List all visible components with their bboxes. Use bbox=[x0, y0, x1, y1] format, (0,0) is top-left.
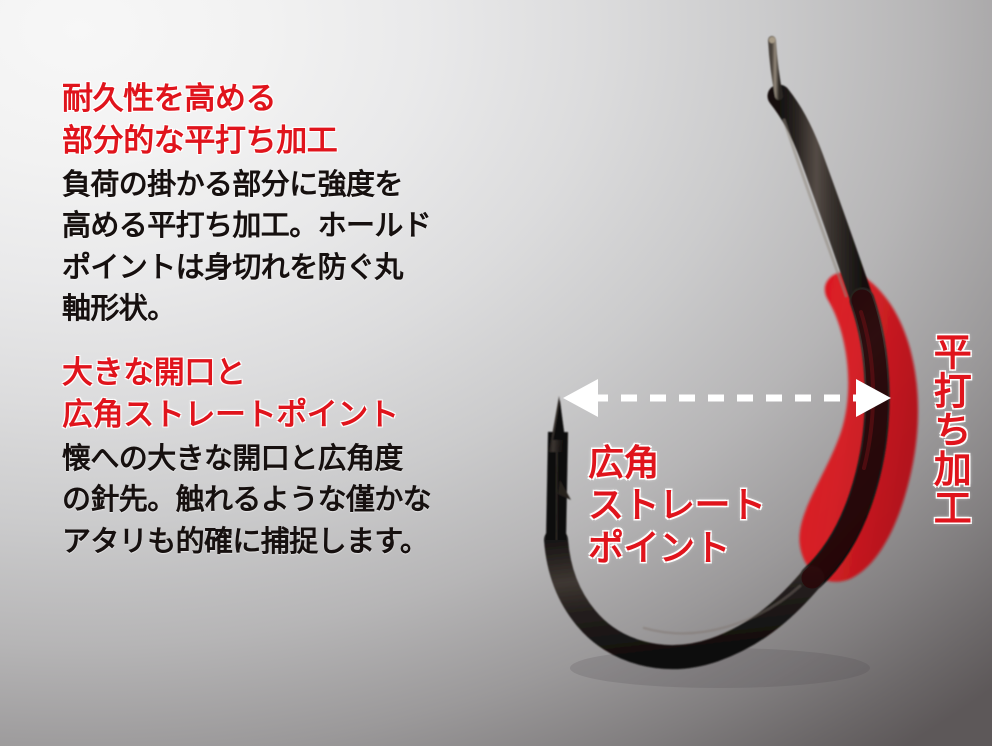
feature-headline: 大きな開口と 広角ストレートポイント bbox=[62, 352, 502, 436]
flat-forged-highlight bbox=[799, 272, 918, 582]
feature-block-flat-forging: 耐久性を高める 部分的な平打ち加工 負荷の掛かる部分に強度を 高める平打ち加工。… bbox=[62, 78, 502, 330]
product-feature-graphic: 耐久性を高める 部分的な平打ち加工 負荷の掛かる部分に強度を 高める平打ち加工。… bbox=[0, 0, 992, 746]
arrow-head-right bbox=[856, 379, 891, 417]
hook-shadow bbox=[570, 648, 870, 688]
hook-point-core bbox=[553, 400, 565, 440]
feature-copy-column: 耐久性を高める 部分的な平打ち加工 負荷の掛かる部分に強度を 高める平打ち加工。… bbox=[62, 78, 502, 563]
hook-point bbox=[549, 396, 567, 452]
hook-straight-shank bbox=[556, 432, 558, 540]
hook-tag-tip bbox=[769, 37, 775, 43]
arrow-head-left bbox=[563, 379, 598, 417]
gape-measure-arrow bbox=[563, 379, 891, 417]
highlight-inner-sheen bbox=[861, 312, 873, 468]
hook-tag-end bbox=[772, 40, 779, 96]
feature-headline: 耐久性を高める 部分的な平打ち加工 bbox=[62, 78, 502, 162]
hook-forged-bend bbox=[812, 300, 877, 578]
hook-core-through-highlight bbox=[812, 300, 877, 578]
callout-straight-point: 広角 ストレート ポイント bbox=[588, 442, 766, 569]
feature-body: 負荷の掛かる部分に強度を 高める平打ち加工。ホールド ポイントは身切れを防ぐ丸 … bbox=[62, 165, 502, 330]
hook-specular-bend bbox=[644, 586, 800, 633]
feature-body: 懐への大きな開口と広角度 の針先。触れるような僅かな アタリも的確に捕捉します。 bbox=[62, 439, 502, 563]
feature-block-wide-gape: 大きな開口と 広角ストレートポイント 懐への大きな開口と広角度 の針先。触れるよ… bbox=[62, 352, 502, 563]
hook-specular-shank bbox=[784, 120, 846, 296]
hook-shank bbox=[779, 96, 862, 300]
callout-flat-forged: 平打ち加工 bbox=[928, 332, 968, 527]
hook-barb bbox=[558, 480, 571, 500]
